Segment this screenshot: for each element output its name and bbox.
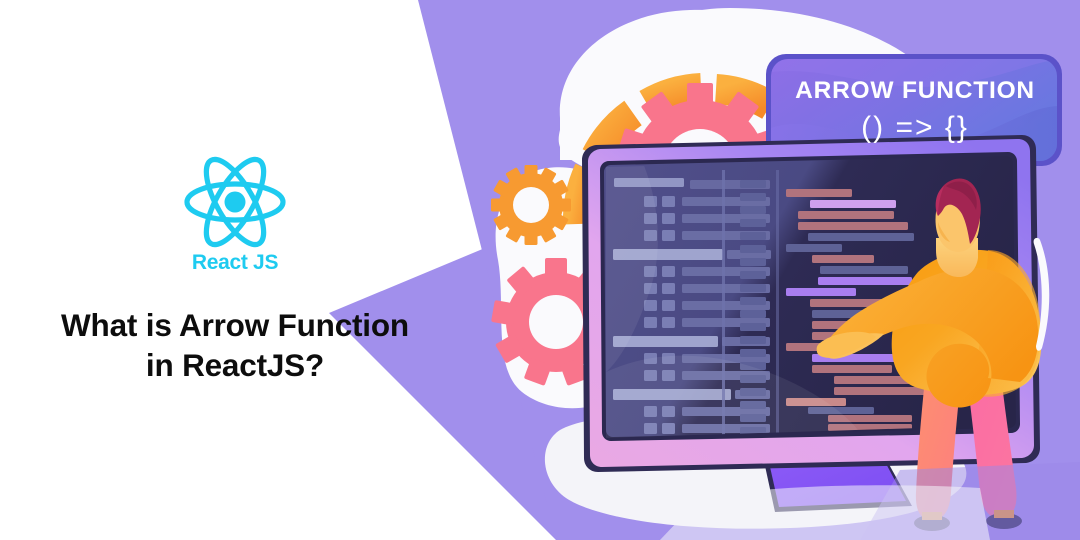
react-atom-icon [183, 155, 287, 249]
page-title-line-2: in ReactJS? [146, 347, 324, 383]
react-logo-label: React JS [192, 251, 278, 275]
react-nucleus [225, 191, 246, 212]
left-content-panel: React JS What is Arrow Functionin ReactJ… [0, 0, 470, 540]
page-title: What is Arrow Functionin ReactJS? [61, 305, 409, 386]
react-logo: React JS [175, 155, 295, 283]
page-title-line-1: What is Arrow Function [61, 307, 409, 343]
